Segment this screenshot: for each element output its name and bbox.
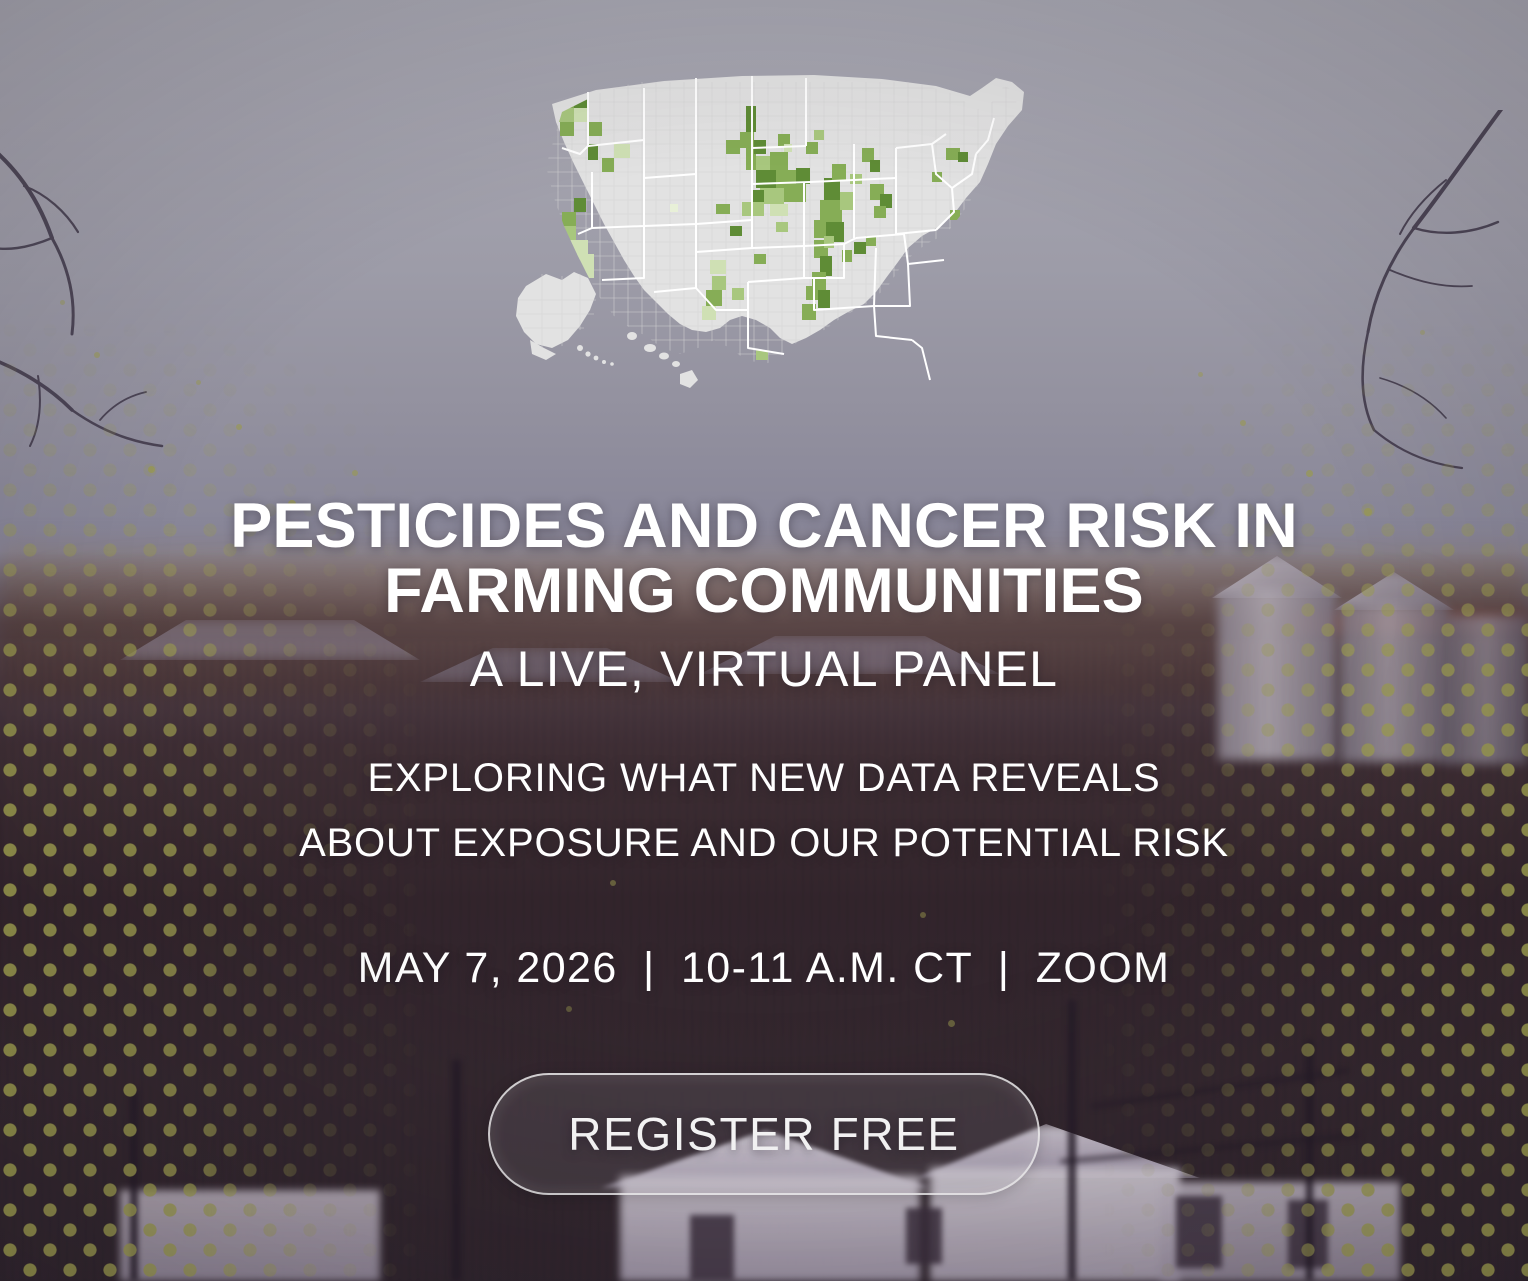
us-map-icon (484, 48, 1044, 408)
event-separator: | (631, 944, 668, 992)
register-free-label: REGISTER FREE (568, 1107, 959, 1161)
content-layer: PESTICIDES AND CANCER RISK IN FARMING CO… (0, 0, 1528, 1281)
description-line-2: ABOUT EXPOSURE AND OUR POTENTIAL RISK (0, 811, 1528, 876)
register-free-button[interactable]: REGISTER FREE (488, 1073, 1040, 1195)
description-line-1: EXPLORING WHAT NEW DATA REVEALS (0, 746, 1528, 811)
event-separator: | (986, 944, 1023, 992)
description: EXPLORING WHAT NEW DATA REVEALS ABOUT EX… (0, 746, 1528, 876)
subtitle: A LIVE, VIRTUAL PANEL (0, 640, 1528, 698)
us-choropleth-map (484, 48, 1044, 408)
event-date: MAY 7, 2026 (358, 944, 618, 992)
event-details: MAY 7, 2026 | 10-11 A.M. CT | ZOOM (0, 944, 1528, 993)
alaska-inset (516, 272, 614, 366)
page-title: PESTICIDES AND CANCER RISK IN FARMING CO… (0, 494, 1528, 624)
hawaii-inset (627, 332, 698, 388)
webinar-promo-graphic: PESTICIDES AND CANCER RISK IN FARMING CO… (0, 0, 1528, 1281)
event-time: 10-11 A.M. CT (681, 944, 972, 992)
headline-line-1: PESTICIDES AND CANCER RISK IN (230, 491, 1298, 561)
headline-line-2: FARMING COMMUNITIES (60, 559, 1468, 624)
event-platform: ZOOM (1036, 944, 1171, 992)
